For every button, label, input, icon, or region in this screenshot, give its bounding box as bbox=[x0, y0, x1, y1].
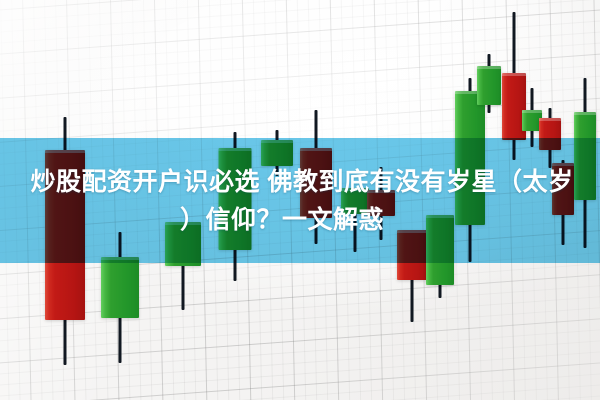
candlestick-banner-image: 炒股配资开户识必选 佛教到底有没有岁星（太岁 ）信仰？一文解惑 bbox=[0, 0, 600, 400]
candle-body-up bbox=[101, 257, 139, 318]
title-banner-band bbox=[0, 138, 600, 263]
candle-body-up bbox=[477, 66, 501, 105]
